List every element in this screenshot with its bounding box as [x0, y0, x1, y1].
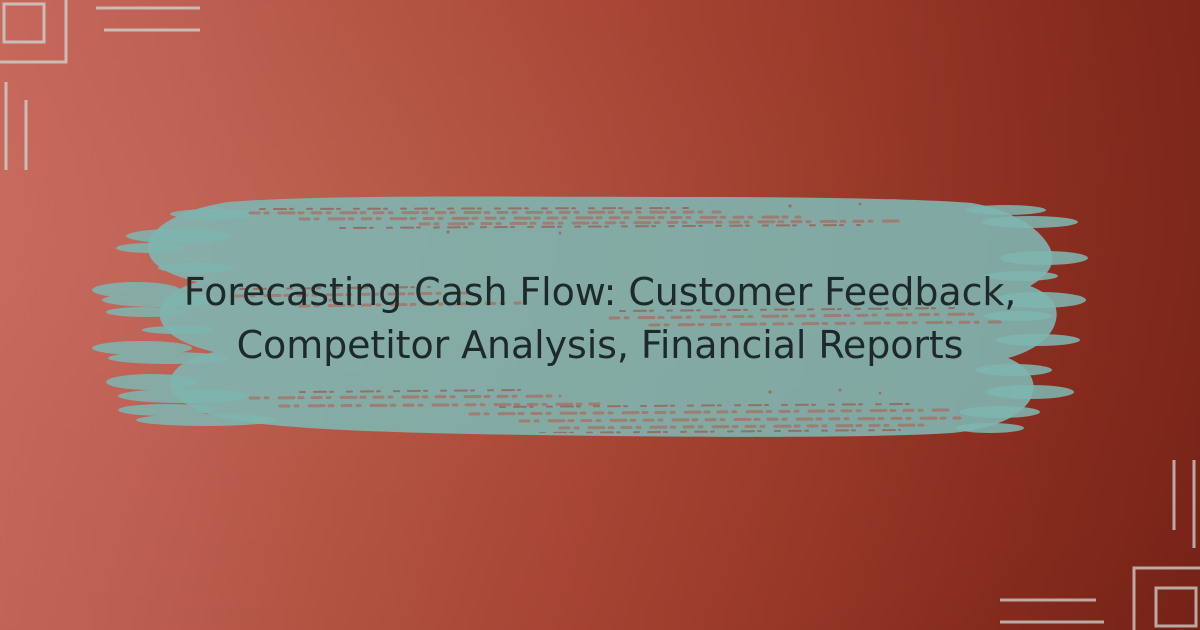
card-title-line-1: Forecasting Cash Flow: Customer Feedback…: [150, 266, 1050, 319]
social-card: Forecasting Cash Flow: Customer Feedback…: [0, 0, 1200, 630]
card-title: Forecasting Cash Flow: Customer Feedback…: [0, 266, 1200, 372]
card-title-line-2: Competitor Analysis, Financial Reports: [150, 319, 1050, 372]
